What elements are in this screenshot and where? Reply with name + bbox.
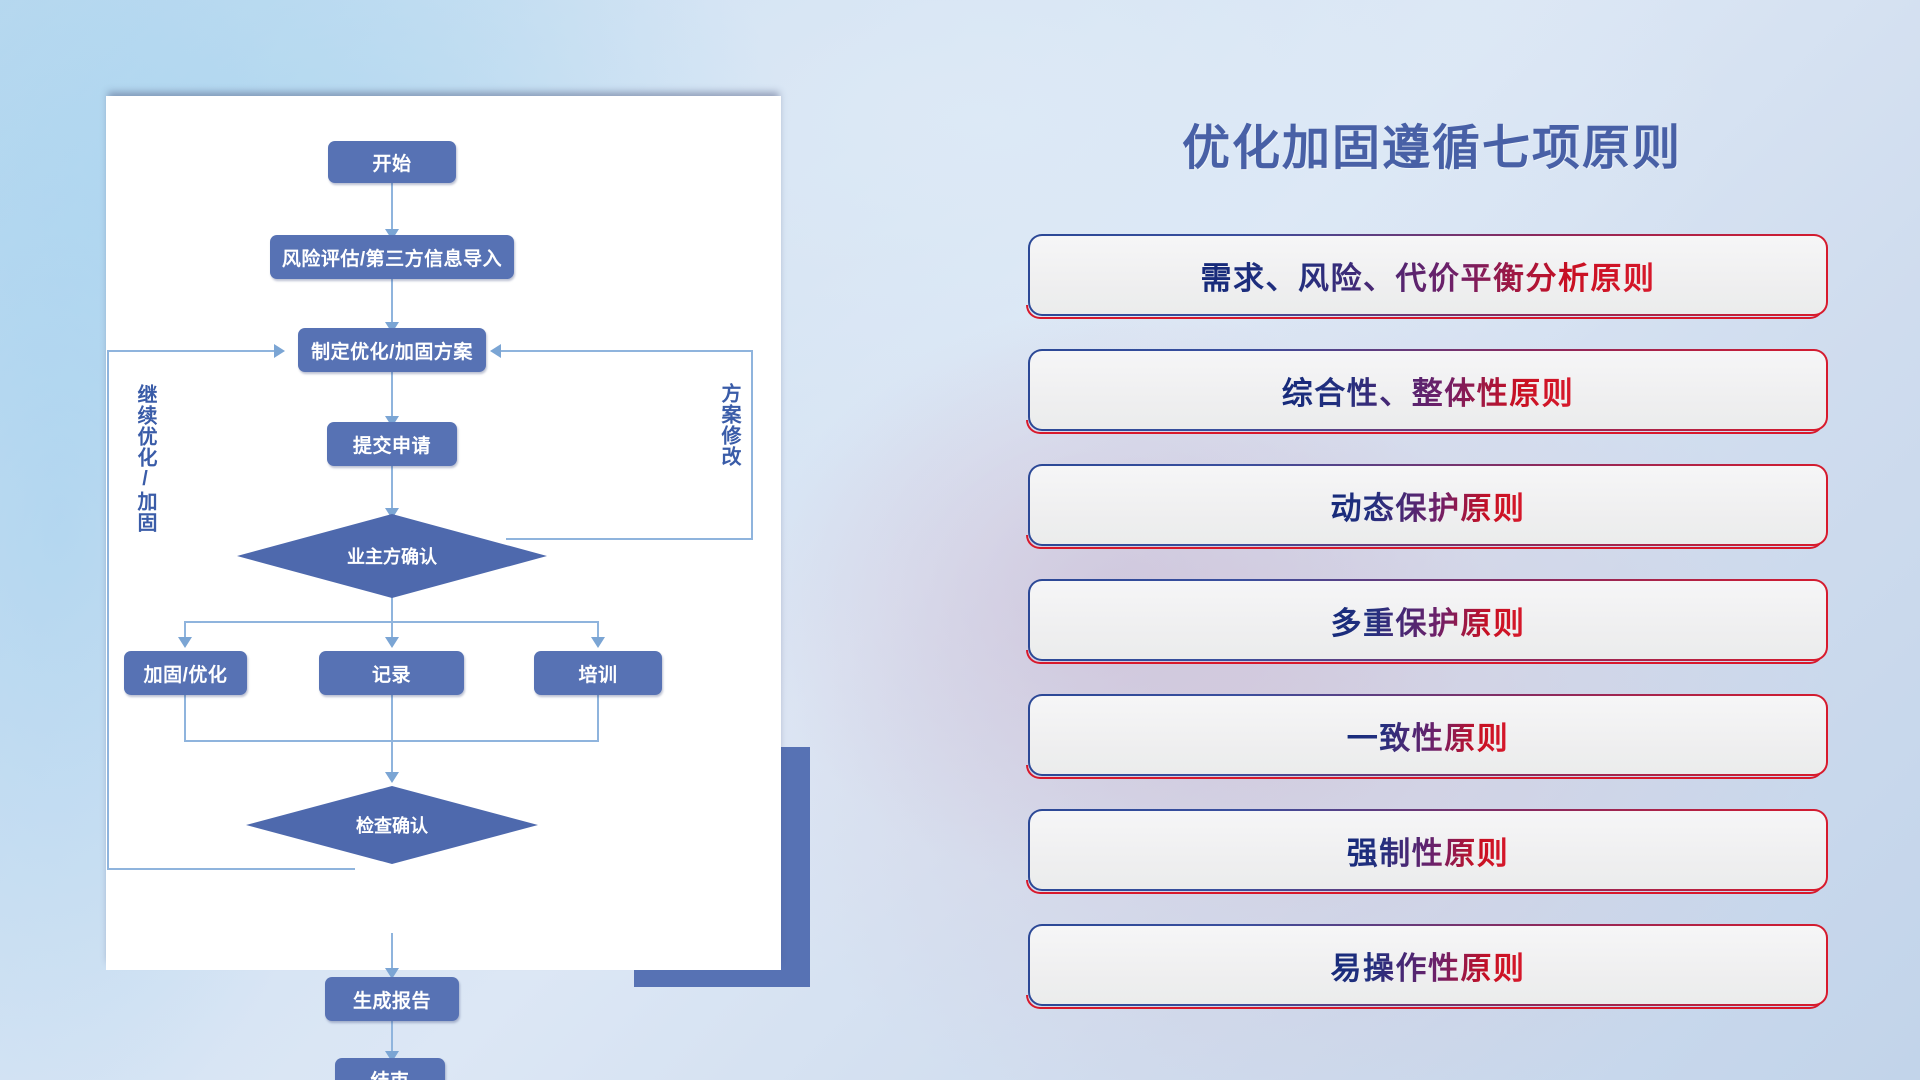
flow-decision-check-confirm[interactable]: 检查确认 — [246, 786, 538, 864]
left-loop-bottom-line — [107, 868, 355, 870]
right-loop-top-line — [500, 350, 753, 352]
left-loop-arrowhead — [274, 344, 285, 358]
flow-node-reinforce-label: 加固/优化 — [144, 660, 228, 687]
flow-node-report-label: 生成报告 — [353, 986, 431, 1013]
principle-card-3-shadow — [1026, 535, 1824, 549]
right-loop-arrowhead — [490, 344, 501, 358]
arrow-to-reinforce — [178, 637, 192, 648]
flow-decision-check-confirm-label: 检查确认 — [356, 812, 428, 838]
flow-node-plan[interactable]: 制定优化/加固方案 — [298, 328, 486, 372]
flow-node-submit[interactable]: 提交申请 — [327, 422, 457, 466]
principle-card-6[interactable]: 强制性原则 — [1028, 809, 1828, 891]
principle-card-5-shadow — [1026, 765, 1824, 779]
merge-rise-center — [391, 694, 393, 742]
flow-node-train[interactable]: 培训 — [534, 651, 662, 695]
flow-node-start-label: 开始 — [372, 149, 411, 176]
left-loop-vertical-line — [107, 350, 109, 870]
right-loop-bottom-line — [506, 538, 752, 540]
flow-node-record-label: 记录 — [372, 660, 411, 687]
flow-node-report[interactable]: 生成报告 — [325, 977, 459, 1021]
principle-card-5-label: 一致性原则 — [1347, 713, 1510, 758]
page-title: 优化加固遵循七项原则 — [1152, 108, 1712, 178]
flow-node-train-label: 培训 — [578, 660, 617, 687]
flow-decision-owner-confirm-label: 业主方确认 — [347, 543, 437, 569]
principle-card-6-shadow — [1026, 880, 1824, 894]
flow-node-end[interactable]: 结束 — [335, 1058, 445, 1080]
principle-card-3[interactable]: 动态保护原则 — [1028, 464, 1828, 546]
flow-node-submit-label: 提交申请 — [353, 431, 431, 458]
principle-card-3-label: 动态保护原则 — [1331, 483, 1526, 528]
flow-node-reinforce[interactable]: 加固/优化 — [124, 651, 247, 695]
left-loop-top-line — [107, 350, 277, 352]
edge-label-continue-optimize: 继续优化/加固 — [134, 384, 155, 533]
merge-rise-left — [184, 694, 186, 742]
flowchart-panel: 开始 风险评估/第三方信息导入 制定优化/加固方案 提交申请 业主方确认 加固/… — [106, 96, 781, 970]
principle-card-list: 需求、风险、代价平衡分析原则 综合性、整体性原则 动态保护原则 多重保护原则 一… — [1028, 234, 1828, 1039]
edge-label-plan-revision: 方案修改 — [718, 383, 739, 467]
arrow-to-train — [591, 637, 605, 648]
principle-card-4-shadow — [1026, 650, 1824, 664]
principle-card-7-shadow — [1026, 995, 1824, 1009]
flow-node-risk-assessment[interactable]: 风险评估/第三方信息导入 — [270, 235, 514, 279]
flow-node-plan-label: 制定优化/加固方案 — [311, 337, 473, 364]
principle-card-4-label: 多重保护原则 — [1331, 598, 1526, 643]
edge-owner-to-split — [391, 597, 393, 623]
flow-node-record[interactable]: 记录 — [319, 651, 464, 695]
principle-card-6-label: 强制性原则 — [1347, 828, 1510, 873]
principle-card-7-label: 易操作性原则 — [1331, 943, 1526, 988]
principle-card-1[interactable]: 需求、风险、代价平衡分析原则 — [1028, 234, 1828, 316]
principle-card-1-shadow — [1026, 305, 1824, 319]
right-loop-vertical-line — [751, 350, 753, 540]
principle-card-4[interactable]: 多重保护原则 — [1028, 579, 1828, 661]
arrow-merge-to-check — [385, 772, 399, 783]
principle-card-5[interactable]: 一致性原则 — [1028, 694, 1828, 776]
flow-node-risk-assessment-label: 风险评估/第三方信息导入 — [282, 244, 502, 271]
principle-card-2[interactable]: 综合性、整体性原则 — [1028, 349, 1828, 431]
principle-card-2-label: 综合性、整体性原则 — [1282, 368, 1575, 413]
flow-decision-owner-confirm[interactable]: 业主方确认 — [237, 514, 547, 598]
merge-rise-right — [597, 694, 599, 742]
arrow-to-record — [385, 637, 399, 648]
flow-node-end-label: 结束 — [370, 1066, 409, 1080]
slide-canvas: 开始 风险评估/第三方信息导入 制定优化/加固方案 提交申请 业主方确认 加固/… — [0, 0, 1920, 1080]
principle-card-1-label: 需求、风险、代价平衡分析原则 — [1201, 253, 1656, 298]
principle-card-7[interactable]: 易操作性原则 — [1028, 924, 1828, 1006]
principle-card-2-shadow — [1026, 420, 1824, 434]
flow-node-start[interactable]: 开始 — [328, 141, 456, 183]
